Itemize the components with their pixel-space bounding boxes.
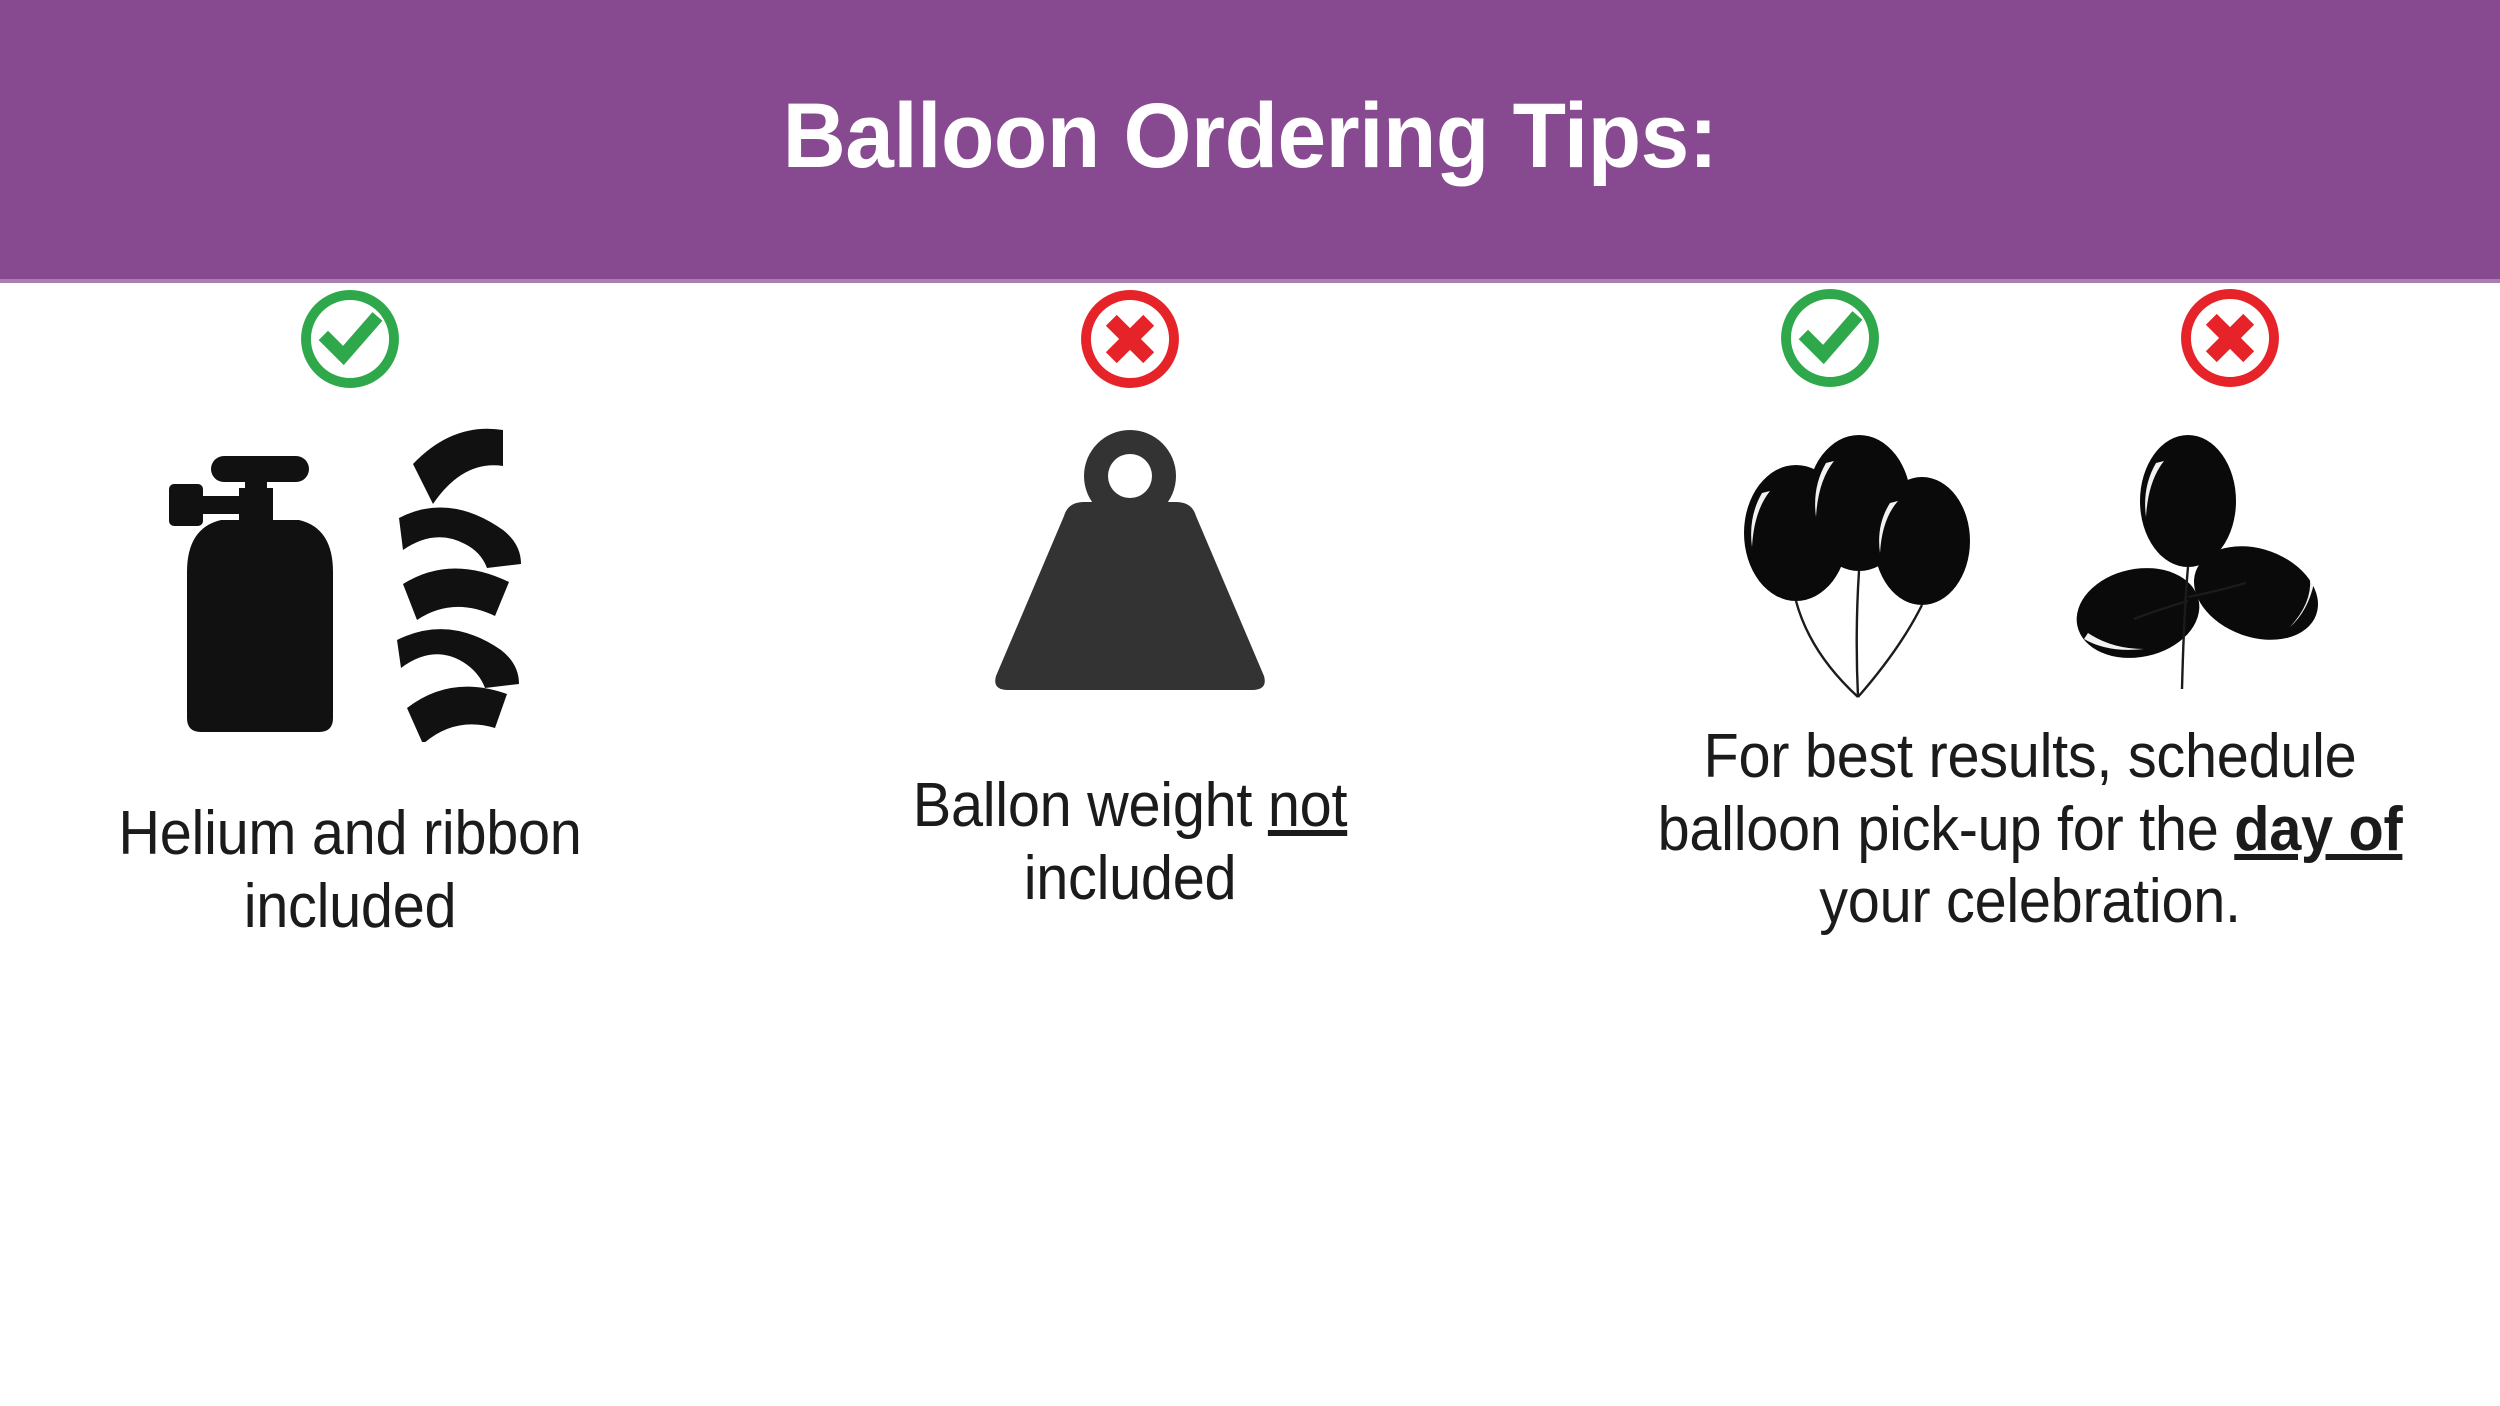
header-band: Balloon Ordering Tips: — [0, 0, 2500, 283]
caption-pickup-timing: For best results, schedule balloon pick-… — [1612, 705, 2449, 939]
caption-balloon-weight: Ballon weight not included — [777, 714, 1484, 915]
caption-line-1: Helium and ribbon — [118, 799, 581, 868]
tip-column-balloon-weight: Ballon weight not included — [700, 283, 1560, 1406]
tips-columns: Helium and ribbon included — [0, 283, 2500, 1406]
art-row — [0, 394, 700, 742]
badge-row — [0, 283, 700, 394]
page-title: Balloon Ordering Tips: — [783, 90, 1718, 182]
caption-helium-ribbon: Helium and ribbon included — [25, 742, 676, 943]
balloon-weight-icon — [980, 424, 1280, 714]
tip-column-helium-ribbon: Helium and ribbon included — [0, 283, 700, 1406]
deflated-balloons-icon — [2076, 415, 2326, 705]
cross-circle-icon — [1075, 284, 1185, 394]
curled-ribbon-icon — [385, 412, 535, 742]
helium-tank-icon — [165, 442, 355, 742]
tip-column-pickup-timing: For best results, schedule balloon pick-… — [1560, 283, 2500, 1406]
badge-row — [700, 283, 1560, 394]
art-row — [700, 394, 1560, 714]
caption-line-2: included — [1024, 844, 1237, 913]
balloon-ordering-tips-poster: Balloon Ordering Tips: — [0, 0, 2500, 1406]
cross-circle-icon — [2175, 283, 2285, 393]
check-circle-icon — [1775, 283, 1885, 393]
caption-emphasis-day-of: day of — [2234, 795, 2402, 864]
art-row — [1560, 393, 2500, 705]
caption-line-2: included — [244, 872, 457, 941]
check-circle-icon — [295, 284, 405, 394]
badge-row — [1560, 283, 2500, 393]
caption-emphasis-not: not — [1268, 771, 1347, 840]
caption-part-2: your celebration. — [1819, 867, 2241, 936]
inflated-balloons-icon — [1734, 415, 1984, 705]
caption-line-1-text: Ballon weight — [913, 771, 1268, 840]
